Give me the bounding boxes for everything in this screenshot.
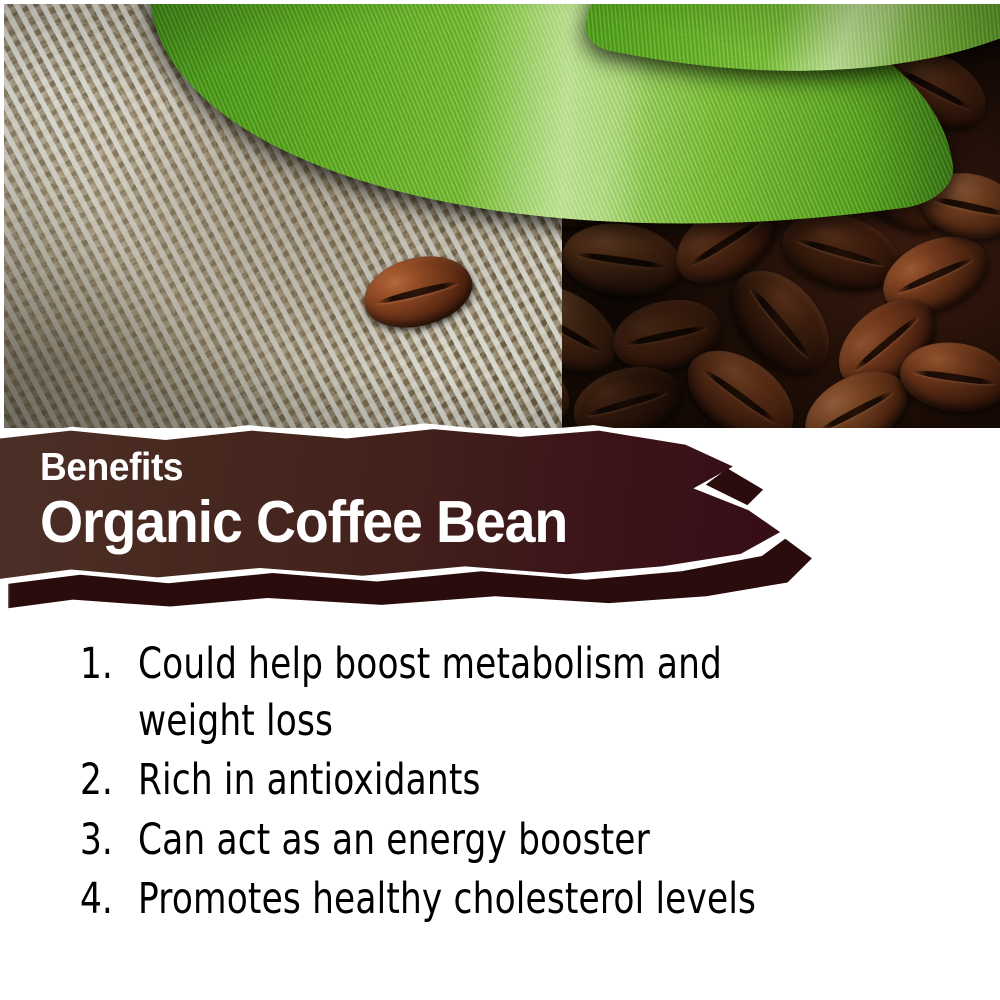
banner-eyebrow: Benefits	[40, 448, 705, 487]
list-item: 2. Rich in antioxidants	[80, 752, 980, 809]
poster-root: Benefits Organic Coffee Bean 1. Could he…	[0, 0, 1000, 1000]
photo-background	[4, 4, 1000, 428]
banner-text-block: Benefits Organic Coffee Bean	[40, 448, 740, 554]
benefits-list: 1. Could help boost metabolism and weigh…	[80, 636, 980, 930]
list-item-text: Could help boost metabolism and weight l…	[138, 636, 812, 750]
list-item: 1. Could help boost metabolism and weigh…	[80, 636, 980, 750]
torn-paper-banner: Benefits Organic Coffee Bean	[0, 412, 830, 612]
list-item-text: Rich in antioxidants	[138, 752, 812, 809]
banner-headline: Organic Coffee Bean	[40, 491, 698, 554]
list-item-text: Promotes healthy cholesterol levels	[138, 871, 812, 928]
list-item: 4. Promotes healthy cholesterol levels	[80, 871, 980, 928]
list-item: 3. Can act as an energy booster	[80, 812, 980, 869]
list-item-number: 4.	[80, 871, 126, 928]
list-item-number: 1.	[80, 636, 126, 693]
list-item-number: 3.	[80, 812, 126, 869]
list-item-text: Can act as an energy booster	[138, 812, 812, 869]
list-item-number: 2.	[80, 752, 126, 809]
coffee-photo	[4, 4, 1000, 428]
